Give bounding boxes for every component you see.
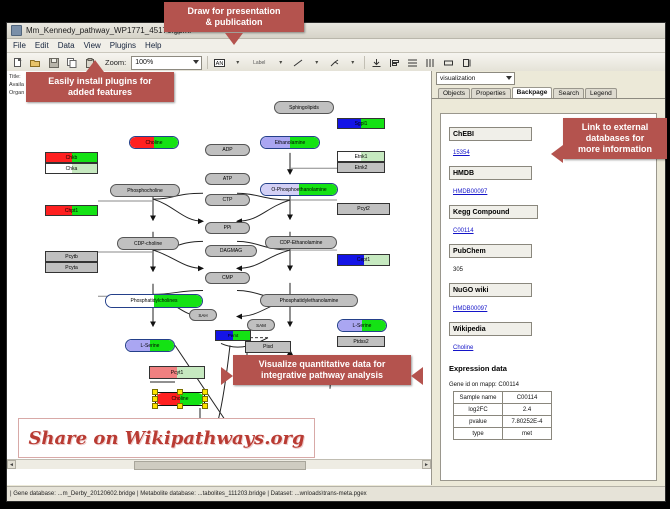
toolbar-separator (207, 56, 208, 69)
node-label: Phosphocholine (127, 188, 163, 194)
statusbar-text: | Gene database: ...m_Derby_20120602.bri… (10, 491, 367, 497)
selection-handle[interactable] (152, 403, 158, 409)
node-label: CMP (222, 275, 233, 281)
pathway-node-phosphocholine[interactable]: Phosphocholine (110, 184, 180, 197)
table-row: log2FC 2.4 (454, 404, 552, 416)
tab-legend[interactable]: Legend (585, 88, 617, 98)
callout-visualize-line2: integrative pathway analysis (239, 370, 405, 381)
pathway-node-pcyt2[interactable]: Pcyt2 (337, 203, 390, 215)
callout-visualize-line1: Visualize quantitative data for (239, 359, 405, 370)
pathway-node-atp[interactable]: ATP (205, 173, 250, 185)
callout-plugins-line2: added features (32, 87, 168, 98)
pathway-node-pisd[interactable]: Pisd (245, 341, 291, 353)
node-label: Ethanolamine (275, 140, 306, 146)
align-bottom-icon[interactable] (370, 56, 383, 69)
node-label: Ptdss2 (353, 339, 368, 345)
pathway-node-phosphatidylethanolamine[interactable]: Phosphatidylethanolamine (260, 294, 358, 307)
datanode-dropdown-icon[interactable]: ▾ (231, 56, 244, 69)
line-tool-icon[interactable] (292, 56, 305, 69)
row-key: Sample name (454, 392, 503, 404)
wikipedia-header: Wikipedia (449, 322, 532, 336)
menu-plugins[interactable]: Plugins (110, 41, 136, 50)
node-label: Choline (172, 396, 189, 402)
pathway-node-sgpl1[interactable]: Sgpl1 (337, 118, 385, 129)
node-label: Sphingolipids (289, 105, 319, 111)
pathway-node-ctp[interactable]: CTP (205, 194, 250, 206)
tab-backpage[interactable]: Backpage (512, 87, 553, 98)
pathway-node-sphingolipids[interactable]: Sphingolipids (274, 101, 334, 114)
node-label: CTP (223, 197, 233, 203)
node-label: Sgpl1 (355, 121, 368, 127)
row-value: met (503, 428, 552, 440)
tab-search[interactable]: Search (553, 88, 584, 98)
statusbar: | Gene database: ...m_Derby_20120602.bri… (7, 486, 665, 501)
node-label: Chkb (66, 155, 78, 161)
chevron-down-icon (193, 60, 199, 64)
callout-visualize-pointer-right (411, 367, 423, 385)
pathway-node-cdpcholine[interactable]: CDP-choline (117, 237, 179, 250)
callout-draw-line2: & publication (170, 17, 298, 28)
callout-plugins-line1: Easily install plugins for (32, 76, 168, 87)
pathway-node-adp[interactable]: ADP (205, 144, 250, 156)
callout-links-pointer (551, 145, 563, 163)
receptor-tool-icon[interactable] (328, 56, 341, 69)
callout-share: Share on Wikipathways.org (18, 418, 315, 458)
window-titlebar: Mm_Kennedy_pathway_WP1771_45176.gpml (7, 23, 665, 39)
pathway-node-ophosphoethanolamine[interactable]: O-Phosphoethanolamine (260, 183, 338, 196)
receptor-dropdown-icon[interactable]: ▾ (346, 56, 359, 69)
table-row: pvalue 7.80252E-4 (454, 416, 552, 428)
selection-handle[interactable] (152, 396, 158, 402)
chebi-header: ChEBI (449, 127, 532, 141)
expression-table: Sample name C00114 log2FC 2.4 pvalue 7.8… (453, 391, 552, 440)
pathway-node-pemt[interactable]: Pemt (215, 330, 251, 341)
callout-links-line2: databases for (567, 133, 663, 144)
pathway-metadata: Title: Availa Organ (9, 73, 24, 97)
table-row: Sample name C00114 (454, 392, 552, 404)
node-label: CDP-Ethanolamine (280, 240, 323, 246)
node-label: SAM (256, 323, 266, 328)
node-label: Pcytb (65, 254, 78, 260)
node-label: CDP-choline (134, 241, 162, 247)
callout-links-line3: more information (567, 144, 663, 155)
node-label: O-Phosphoethanolamine (271, 187, 326, 193)
node-label: ATP (223, 176, 232, 182)
screenshot-root: Mm_Kennedy_pathway_WP1771_45176.gpml Fil… (0, 0, 670, 509)
selection-handle[interactable] (152, 389, 158, 395)
callout-share-text: Share on Wikipathways.org (28, 428, 304, 449)
pathway-node-cdpethanolamine[interactable]: CDP-Ethanolamine (265, 236, 337, 249)
menu-edit[interactable]: Edit (35, 41, 49, 50)
node-label: DAGMAG (220, 248, 242, 254)
pathway-node-choline_top[interactable]: Choline (129, 136, 179, 149)
node-label: Chka (66, 166, 78, 172)
canvas-hscrollbar[interactable]: ◄ ► (7, 459, 431, 469)
pathway-node-ppi[interactable]: PPi (205, 222, 250, 234)
node-label: Phosphatidylcholines (131, 298, 178, 304)
pathway-node-pcyta[interactable]: Pcyta (45, 262, 98, 273)
menu-data[interactable]: Data (58, 41, 75, 50)
callout-links-line1: Link to external (567, 122, 663, 133)
node-label: PPi (224, 225, 232, 231)
pathway-node-etnk1[interactable]: Etnk1 (337, 151, 385, 162)
chebi-link[interactable]: 15354 (453, 150, 470, 156)
callout-visualize-pointer-left (221, 367, 233, 385)
callout-plugins-pointer (86, 60, 104, 72)
callout-draw-pointer (225, 33, 243, 45)
pathway-node-cmp[interactable]: CMP (205, 272, 250, 284)
align-left-icon[interactable] (388, 56, 401, 69)
node-label: Pisd (263, 344, 273, 350)
new-icon[interactable] (11, 56, 24, 69)
node-label: Chpt1 (65, 208, 78, 214)
pathway-node-lserine_left[interactable]: L-Serine (125, 339, 175, 352)
node-label: Pemt (228, 333, 239, 338)
callout-plugins: Easily install plugins for added feature… (26, 72, 174, 102)
callout-draw: Draw for presentation & publication (164, 2, 304, 32)
row-value: C00114 (503, 392, 552, 404)
pathway-node-phosphatidylcholines[interactable]: Phosphatidylcholines (105, 294, 203, 308)
node-label: L-Serine (353, 323, 372, 329)
node-label: Choline (146, 140, 163, 146)
scroll-left-arrow[interactable]: ◄ (7, 460, 16, 469)
kegg-header: Kegg Compound (449, 205, 538, 219)
node-label: Cept1 (357, 257, 370, 263)
backpage-content: ChEBI 15354 HMDB HMDB00097 Kegg Compound… (440, 113, 657, 481)
visualization-bar: visualization (432, 71, 665, 85)
pathway-node-sah[interactable]: SAH (189, 309, 217, 321)
meta-availability-label: Availa (9, 81, 24, 89)
pathway-node-cept1[interactable]: Cept1 (337, 254, 390, 266)
svg-text:AN: AN (216, 61, 224, 67)
scroll-right-arrow[interactable]: ► (422, 460, 431, 469)
menu-help[interactable]: Help (145, 41, 161, 50)
common-height-icon[interactable] (460, 56, 473, 69)
node-label: Pcyt1 (171, 370, 184, 376)
row-key: log2FC (454, 404, 503, 416)
pathvisio-icon (11, 25, 22, 36)
pathway-node-lserine_right[interactable]: L-Serine (337, 319, 387, 332)
pathway-node-chpt1[interactable]: Chpt1 (45, 205, 98, 216)
expression-data-heading: Expression data (449, 364, 648, 373)
row-value: 7.80252E-4 (503, 416, 552, 428)
pathway-node-sam[interactable]: SAM (247, 319, 275, 331)
kegg-link[interactable]: C00114 (453, 228, 474, 234)
visualization-value: visualization (440, 75, 475, 82)
hmdb-link[interactable]: HMDB00097 (453, 189, 487, 195)
node-label: ADP (222, 147, 232, 153)
zoom-label: Zoom: (105, 58, 126, 67)
pathway-node-chka[interactable]: Chka (45, 163, 98, 174)
label-tool-icon[interactable]: Label (249, 56, 269, 69)
copy-icon[interactable] (65, 56, 78, 69)
zoom-combo[interactable]: 100% (131, 56, 202, 70)
distribute-horizontal-icon[interactable] (424, 56, 437, 69)
callout-draw-line1: Draw for presentation (170, 6, 298, 17)
node-label: Phosphatidylethanolamine (280, 298, 339, 304)
selection-handle[interactable] (202, 396, 208, 402)
node-label: Pcyt2 (357, 206, 370, 212)
zoom-value: 100% (135, 59, 153, 66)
label-dropdown-icon[interactable]: ▾ (274, 56, 287, 69)
open-icon[interactable] (29, 56, 42, 69)
wikipedia-link[interactable]: Choline (453, 345, 473, 351)
row-key: type (454, 428, 503, 440)
tab-properties[interactable]: Properties (471, 88, 511, 98)
pathway-node-ptdss2[interactable]: Ptdss2 (337, 336, 385, 347)
table-row: type met (454, 428, 552, 440)
selection-handle[interactable] (177, 389, 183, 395)
gene-id-line: Gene id on mapp: C00114 (449, 382, 648, 388)
toolbar: Zoom: 100% AN ▾ Label ▾ ▾ ▾ (7, 53, 665, 73)
nugowiki-link[interactable]: HMDB00097 (453, 306, 487, 312)
chevron-down-icon (506, 76, 512, 80)
selection-handle[interactable] (202, 389, 208, 395)
pubchem-header: PubChem (449, 244, 532, 258)
meta-title-label: Title: (9, 73, 24, 81)
common-width-icon[interactable] (442, 56, 455, 69)
line-dropdown-icon[interactable]: ▾ (310, 56, 323, 69)
pathway-node-pcytb[interactable]: Pcytb (45, 251, 98, 262)
node-label: L-Serine (141, 343, 160, 349)
datanode-tool-icon[interactable]: AN (213, 56, 226, 69)
row-key: pvalue (454, 416, 503, 428)
selection-handle[interactable] (177, 403, 183, 409)
pathway-node-dagmag[interactable]: DAGMAG (205, 245, 257, 257)
menu-file[interactable]: File (13, 41, 26, 50)
callout-links: Link to external databases for more info… (563, 118, 667, 159)
callout-visualize: Visualize quantitative data for integrat… (233, 355, 411, 385)
pathway-node-etnk2[interactable]: Etnk2 (337, 162, 385, 173)
selection-handle[interactable] (202, 403, 208, 409)
hmdb-header: HMDB (449, 166, 532, 180)
save-icon[interactable] (47, 56, 60, 69)
row-value: 2.4 (503, 404, 552, 416)
node-label: Etnk1 (355, 154, 368, 160)
tab-objects[interactable]: Objects (438, 88, 470, 98)
node-label: Pcyta (65, 265, 78, 271)
meta-organism-label: Organ (9, 89, 24, 97)
menubar: File Edit Data View Plugins Help (7, 39, 665, 53)
distribute-vertical-icon[interactable] (406, 56, 419, 69)
hscroll-thumb[interactable] (134, 461, 306, 470)
side-panel-tabs: Objects Properties Backpage Search Legen… (432, 85, 665, 99)
pubchem-value: 305 (453, 267, 463, 273)
pathway-node-pcyt1[interactable]: Pcyt1 (149, 366, 205, 379)
menu-view[interactable]: View (84, 41, 101, 50)
nugowiki-header: NuGO wiki (449, 283, 532, 297)
pathway-node-chkb[interactable]: Chkb (45, 152, 98, 163)
node-label: SAH (198, 313, 207, 318)
pathway-node-ethanolamine[interactable]: Ethanolamine (260, 136, 320, 149)
toolbar-separator-2 (364, 56, 365, 69)
visualization-combo[interactable]: visualization (436, 72, 515, 85)
node-label: Etnk2 (355, 165, 368, 171)
